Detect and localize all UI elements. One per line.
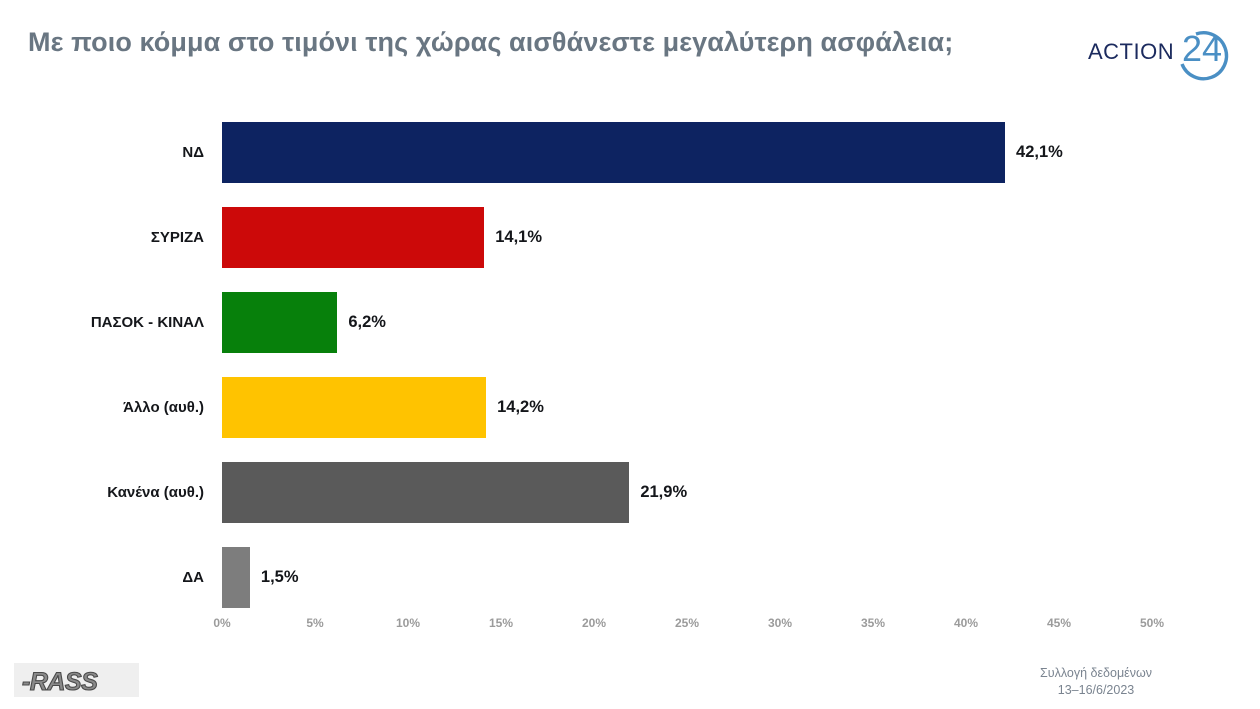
header: Με ποιο κόμμα στο τιμόνι της χώρας αισθά… xyxy=(0,0,1260,96)
bar-row: ΣΥΡΙΖΑ14,1% xyxy=(222,207,1152,268)
category-label: ΝΔ xyxy=(182,122,204,183)
action24-wordmark-text: ACTION xyxy=(1088,39,1174,64)
x-tick-label: 50% xyxy=(1140,616,1164,630)
collection-label: Συλλογή δεδομένων xyxy=(1040,665,1152,682)
rass-wordmark-text: -RASS xyxy=(22,668,98,696)
bar-chart: ΝΔ42,1%ΣΥΡΙΖΑ14,1%ΠΑΣΟΚ - ΚΙΝΑΛ6,2%Άλλο … xyxy=(0,96,1260,656)
x-tick-label: 35% xyxy=(861,616,885,630)
bar-2[interactable] xyxy=(222,207,484,268)
x-tick-label: 15% xyxy=(489,616,513,630)
x-tick-label: 5% xyxy=(306,616,323,630)
x-tick-label: 25% xyxy=(675,616,699,630)
x-tick-label: 30% xyxy=(768,616,792,630)
bar-value-label: 21,9% xyxy=(629,462,687,523)
data-collection-note: Συλλογή δεδομένων 13–16/6/2023 xyxy=(1040,665,1152,699)
x-tick-label: 40% xyxy=(954,616,978,630)
bar-row: ΝΔ42,1% xyxy=(222,122,1152,183)
category-label: ΠΑΣΟΚ - ΚΙΝΑΛ xyxy=(91,292,204,353)
category-label: Κανένα (αυθ.) xyxy=(107,462,204,523)
bar-5[interactable] xyxy=(222,462,629,523)
collection-dates: 13–16/6/2023 xyxy=(1040,682,1152,699)
bar-6[interactable] xyxy=(222,547,250,608)
action24-number-text: 24 xyxy=(1182,28,1222,69)
x-tick-label: 20% xyxy=(582,616,606,630)
plot-area: ΝΔ42,1%ΣΥΡΙΖΑ14,1%ΠΑΣΟΚ - ΚΙΝΑΛ6,2%Άλλο … xyxy=(222,122,1152,634)
x-axis: 0%5%10%15%20%25%30%35%40%45%50% xyxy=(222,616,1152,646)
bar-3[interactable] xyxy=(222,292,337,353)
action24-logo: ACTION 24 xyxy=(1086,14,1246,86)
x-tick-label: 45% xyxy=(1047,616,1071,630)
category-label: ΔΑ xyxy=(182,547,204,608)
bar-row: ΔΑ1,5% xyxy=(222,547,1152,608)
bar-1[interactable] xyxy=(222,122,1005,183)
bar-value-label: 6,2% xyxy=(337,292,386,353)
x-tick-label: 0% xyxy=(213,616,230,630)
bar-value-label: 14,2% xyxy=(486,377,544,438)
bar-value-label: 42,1% xyxy=(1005,122,1063,183)
bar-4[interactable] xyxy=(222,377,486,438)
category-label: ΣΥΡΙΖΑ xyxy=(151,207,204,268)
bar-row: Άλλο (αυθ.)14,2% xyxy=(222,377,1152,438)
bar-row: Κανένα (αυθ.)21,9% xyxy=(222,462,1152,523)
x-tick-label: 10% xyxy=(396,616,420,630)
bar-value-label: 1,5% xyxy=(250,547,299,608)
category-label: Άλλο (αυθ.) xyxy=(123,377,204,438)
bar-value-label: 14,1% xyxy=(484,207,542,268)
page-title: Με ποιο κόμμα στο τιμόνι της χώρας αισθά… xyxy=(28,27,953,58)
bar-row: ΠΑΣΟΚ - ΚΙΝΑΛ6,2% xyxy=(222,292,1152,353)
rass-logo: -RASS xyxy=(14,659,139,701)
